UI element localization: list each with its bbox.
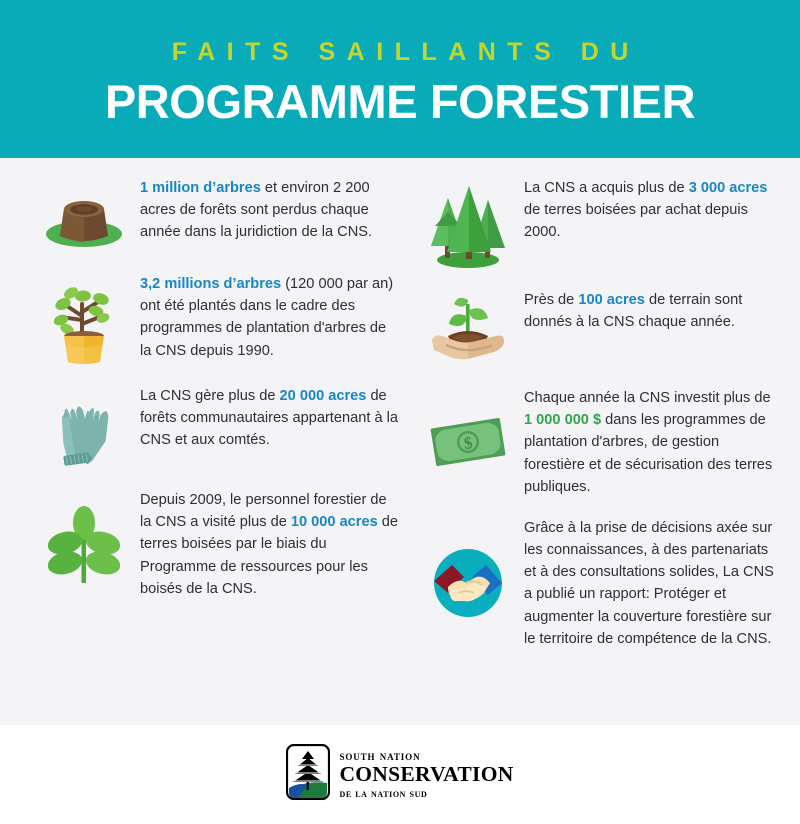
organization-logo: South Nation CONSERVATION de la Nation S… <box>286 744 513 805</box>
fact-text: Grâce à la prise de décisions axée sur l… <box>524 516 782 650</box>
page-footer: South Nation CONSERVATION de la Nation S… <box>0 725 800 824</box>
fact-body: de terres boisées par achat depuis 2000. <box>524 202 748 240</box>
facts-column-right: La CNS a acquis plus de 3 000 acres de t… <box>402 176 786 725</box>
fact-highlight: 20 000 acres <box>280 388 367 404</box>
logo-line-nation-sud: de la Nation Sud <box>339 789 513 801</box>
logo-line-conservation: CONSERVATION <box>339 764 513 786</box>
fact-body: Près de <box>524 292 578 308</box>
fact-highlight: 3,2 millions d’arbres <box>140 276 281 292</box>
facts-column-left: 1 million d’arbres et environ 2 200 acre… <box>14 176 402 725</box>
fact-item: La CNS a acquis plus de 3 000 acres de t… <box>412 176 786 270</box>
leaf-frond-icon <box>28 501 140 587</box>
fact-text: La CNS a acquis plus de 3 000 acres de t… <box>524 176 782 244</box>
fact-item: Depuis 2009, le personnel forestier de l… <box>28 488 402 600</box>
fact-highlight: 1 million d’arbres <box>140 180 261 196</box>
fact-body: La CNS a acquis plus de <box>524 180 689 196</box>
pine-forest-icon <box>412 176 524 270</box>
tree-stump-icon <box>28 176 140 254</box>
fact-text: Chaque année la CNS investit plus de 1 0… <box>524 386 782 498</box>
handshake-icon <box>412 543 524 623</box>
header-eyebrow: FAITS SAILLANTS DU <box>160 40 640 65</box>
facts-panel: 1 million d’arbres et environ 2 200 acre… <box>0 158 800 725</box>
dollar-bill-icon: $ <box>412 411 524 473</box>
pine-tree-logo-icon <box>286 744 330 805</box>
fact-body: La CNS gère plus de <box>140 388 280 404</box>
fact-text: 3,2 millions d’arbres (120 000 par an) o… <box>140 272 398 362</box>
fact-highlight: 3 000 acres <box>689 180 768 196</box>
page-title: PROGRAMME FORESTIER <box>105 78 695 125</box>
gardening-gloves-icon <box>28 384 140 470</box>
fact-item: Grâce à la prise de décisions axée sur l… <box>412 516 786 650</box>
fact-body: Grâce à la prise de décisions axée sur l… <box>524 520 774 647</box>
potted-plant-icon <box>28 272 140 366</box>
fact-item: $ Chaque année la CNS investit plus de 1… <box>412 386 786 498</box>
logo-line-south-nation: South Nation <box>339 749 513 763</box>
fact-item: Près de 100 acres de terrain sont donnés… <box>412 288 786 368</box>
fact-item: 1 million d’arbres et environ 2 200 acre… <box>28 176 402 254</box>
page-header: FAITS SAILLANTS DU PROGRAMME FORESTIER <box>0 0 800 158</box>
fact-highlight: 10 000 acres <box>291 514 378 530</box>
fact-text: Depuis 2009, le personnel forestier de l… <box>140 488 398 600</box>
logo-wordmark: South Nation CONSERVATION de la Nation S… <box>339 749 513 801</box>
fact-item: La CNS gère plus de 20 000 acres de forê… <box>28 384 402 470</box>
fact-body: Chaque année la CNS investit plus de <box>524 390 771 406</box>
fact-item: 3,2 millions d’arbres (120 000 par an) o… <box>28 272 402 366</box>
fact-highlight: 100 acres <box>578 292 645 308</box>
fact-text: Près de 100 acres de terrain sont donnés… <box>524 288 782 333</box>
fact-text: La CNS gère plus de 20 000 acres de forê… <box>140 384 398 452</box>
fact-text: 1 million d’arbres et environ 2 200 acre… <box>140 176 398 244</box>
fact-highlight: 1 000 000 $ <box>524 412 601 428</box>
hand-holding-seedling-icon <box>412 288 524 368</box>
